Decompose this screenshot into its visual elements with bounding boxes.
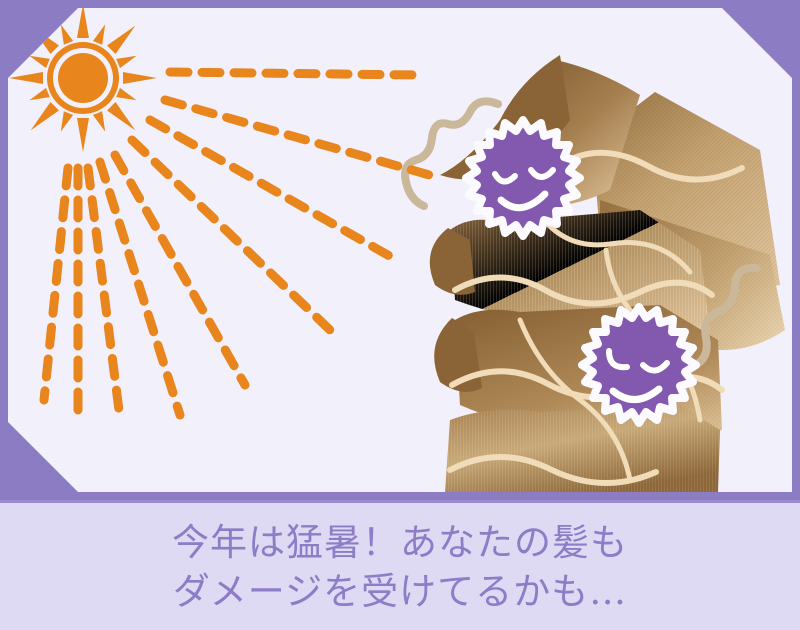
- caption-line-1: 今年は猛暑！あなたの髪も: [172, 518, 628, 567]
- sun-ray: [170, 72, 418, 75]
- caption-line-2: ダメージを受けてるかも…: [173, 567, 627, 616]
- poster-root: 今年は猛暑！あなたの髪も ダメージを受けてるかも…: [0, 0, 800, 630]
- illustration-panel: [0, 0, 800, 500]
- illustration-canvas: [0, 0, 800, 500]
- caption-strip: 今年は猛暑！あなたの髪も ダメージを受けてるかも…: [0, 500, 800, 630]
